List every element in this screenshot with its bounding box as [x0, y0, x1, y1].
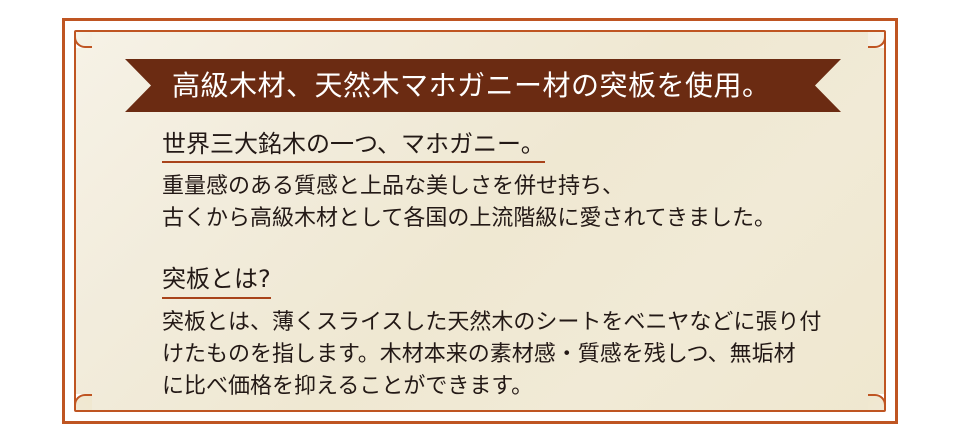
section-mahogany-heading: 世界三大銘木の一つ、マホガニー。 — [162, 128, 545, 163]
section-veneer: 突板とは? 突板とは、薄くスライスした天然木のシートをベニヤなどに張り付 けたも… — [162, 263, 854, 402]
header-ribbon-banner: 高級木材、天然木マホガニー材の突板を使用。 — [125, 59, 841, 112]
paragraph-line: 重量感のある質感と上品な美しさを併せ持ち、 — [162, 171, 854, 203]
content-body: 世界三大銘木の一つ、マホガニー。 重量感のある質感と上品な美しさを併せ持ち、 古… — [162, 128, 854, 405]
banner-title: 高級木材、天然木マホガニー材の突板を使用。 — [125, 72, 771, 100]
corner-ornament-bottom-left — [74, 394, 92, 412]
paragraph-line: 突板とは、薄くスライスした天然木のシートをベニヤなどに張り付 — [162, 307, 854, 339]
corner-ornament-top-right — [868, 30, 886, 48]
section-veneer-heading: 突板とは? — [162, 263, 271, 298]
corner-ornament-bottom-right — [868, 394, 886, 412]
paragraph-line: 古くから高級木材として各国の上流階級に愛されてきました。 — [162, 203, 854, 235]
product-info-panel: 高級木材、天然木マホガニー材の突板を使用。 世界三大銘木の一つ、マホガニー。 重… — [62, 18, 898, 424]
corner-ornament-top-left — [74, 30, 92, 48]
decorative-inner-frame: 高級木材、天然木マホガニー材の突板を使用。 世界三大銘木の一つ、マホガニー。 重… — [74, 30, 886, 412]
section-mahogany-paragraph: 重量感のある質感と上品な美しさを併せ持ち、 古くから高級木材として各国の上流階級… — [162, 171, 854, 235]
paragraph-line: に比べ価格を抑えることができます。 — [162, 371, 854, 403]
section-mahogany: 世界三大銘木の一つ、マホガニー。 重量感のある質感と上品な美しさを併せ持ち、 古… — [162, 128, 854, 235]
paragraph-line: けたものを指します。木材本来の素材感・質感を残しつ、無垢材 — [162, 339, 854, 371]
section-veneer-paragraph: 突板とは、薄くスライスした天然木のシートをベニヤなどに張り付 けたものを指します… — [162, 307, 854, 403]
